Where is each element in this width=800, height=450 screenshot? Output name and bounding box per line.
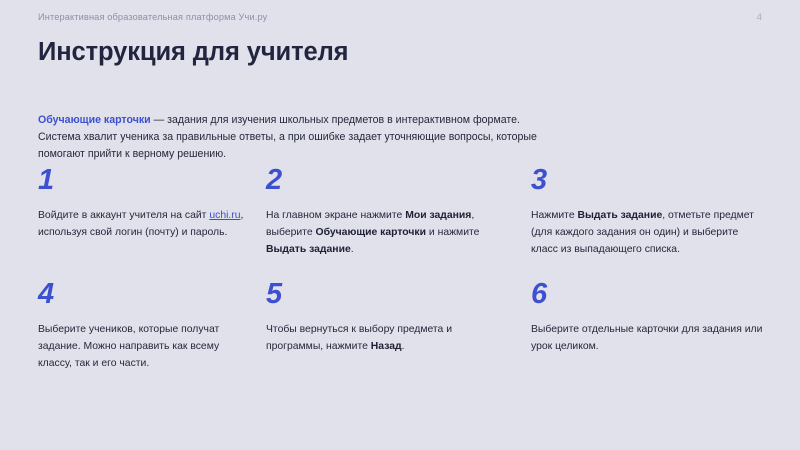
step-item-2: 2 На главном экране нажмите Мои задания,… xyxy=(266,166,531,280)
emphasis-text: Назад xyxy=(371,341,402,352)
emphasis-text: Выдать задание xyxy=(266,244,351,255)
intro-lead-term: Обучающие карточки xyxy=(38,114,151,126)
step-number-2: 2 xyxy=(266,166,531,195)
step-text-4: Выберите учеников, которые получат задан… xyxy=(38,322,253,373)
plain-text: Чтобы вернуться к выбору предмета и прог… xyxy=(266,324,452,352)
step-number-3: 3 xyxy=(531,166,768,195)
step-text-2: На главном экране нажмите Мои задания, в… xyxy=(266,208,511,259)
step-item-4: 4 Выберите учеников, которые получат зад… xyxy=(38,280,266,373)
plain-text: Нажмите xyxy=(531,210,578,221)
page-number: 4 xyxy=(757,12,762,23)
external-link[interactable]: uchi.ru xyxy=(209,210,240,221)
plain-text: Войдите в аккаунт учителя на сайт xyxy=(38,210,209,221)
steps-grid: 1 Войдите в аккаунт учителя на сайт uchi… xyxy=(38,166,768,373)
platform-label: Интерактивная образовательная платформа … xyxy=(38,12,267,22)
slide-root: Интерактивная образовательная платформа … xyxy=(0,0,800,450)
plain-text: . xyxy=(351,244,354,255)
intro-paragraph: Обучающие карточки — задания для изучени… xyxy=(38,112,558,163)
emphasis-text: Мои задания xyxy=(405,210,471,221)
emphasis-text: Выдать задание xyxy=(578,210,663,221)
step-number-4: 4 xyxy=(38,280,266,309)
step-item-3: 3 Нажмите Выдать задание, отметьте предм… xyxy=(531,166,768,280)
page-title: Инструкция для учителя xyxy=(38,38,348,66)
plain-text: и нажмите xyxy=(426,227,479,238)
step-number-6: 6 xyxy=(531,280,768,309)
step-text-5: Чтобы вернуться к выбору предмета и прог… xyxy=(266,322,511,356)
step-item-1: 1 Войдите в аккаунт учителя на сайт uchi… xyxy=(38,166,266,280)
step-text-1: Войдите в аккаунт учителя на сайт uchi.r… xyxy=(38,208,253,242)
step-number-1: 1 xyxy=(38,166,266,195)
step-text-3: Нажмите Выдать задание, отметьте предмет… xyxy=(531,208,766,259)
plain-text: Выберите отдельные карточки для задания … xyxy=(531,324,762,352)
step-item-6: 6 Выберите отдельные карточки для задани… xyxy=(531,280,768,373)
step-text-6: Выберите отдельные карточки для задания … xyxy=(531,322,766,356)
step-number-5: 5 xyxy=(266,280,531,309)
slide-header: Интерактивная образовательная платформа … xyxy=(38,8,762,26)
plain-text: На главном экране нажмите xyxy=(266,210,405,221)
plain-text: Выберите учеников, которые получат задан… xyxy=(38,324,219,369)
step-item-5: 5 Чтобы вернуться к выбору предмета и пр… xyxy=(266,280,531,373)
emphasis-text: Обучающие карточки xyxy=(316,227,427,238)
plain-text: . xyxy=(402,341,405,352)
